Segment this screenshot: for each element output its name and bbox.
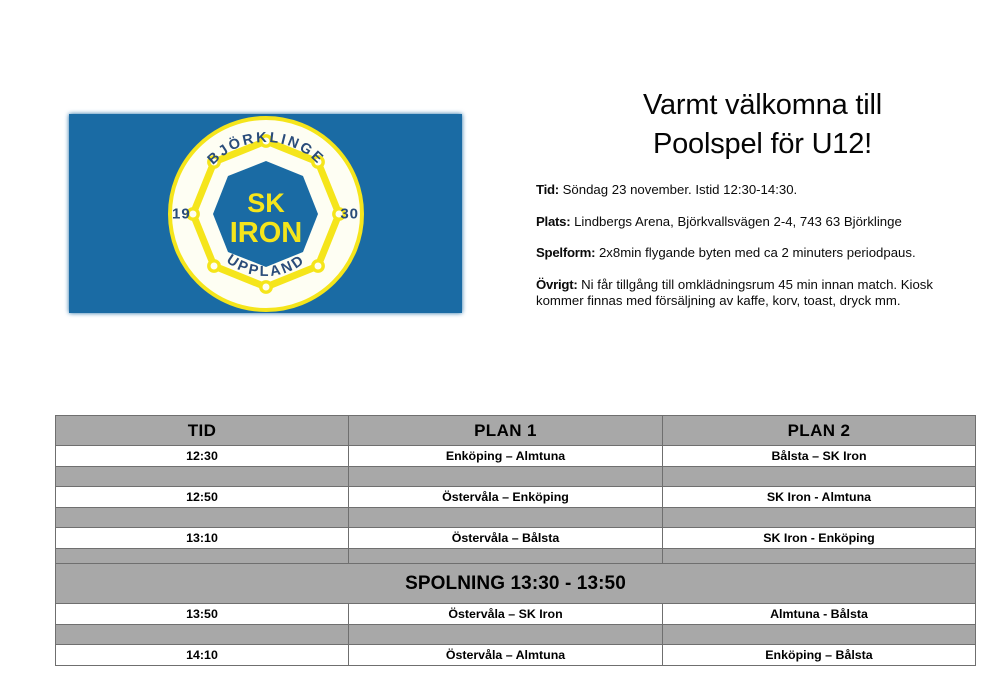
- table-row: 13:10 Östervåla – Bålsta SK Iron - Enköp…: [56, 528, 976, 549]
- info-item-spelform: Spelform: 2x8min flygande byten med ca 2…: [536, 245, 976, 262]
- info-item-tid: Tid: Söndag 23 november. Istid 12:30-14:…: [536, 182, 976, 199]
- spacer-cell-plan1: [349, 625, 663, 645]
- info-value-spelform: 2x8min flygande byten med ca 2 minuters …: [599, 245, 916, 260]
- cell-plan2: Enköping – Bålsta: [663, 645, 976, 666]
- info-value-tid: Söndag 23 november. Istid 12:30-14:30.: [563, 182, 798, 197]
- cell-time: 12:50: [56, 487, 349, 508]
- spacer-cell-plan2: [663, 625, 976, 645]
- table-spacer-row: [56, 467, 976, 487]
- table-row: 13:50 Östervåla – SK Iron Almtuna - Båls…: [56, 604, 976, 625]
- info-label-plats: Plats:: [536, 214, 570, 229]
- logo-emblem-icon: SK IRON BJÖRKLINGE UPPLAND: [166, 114, 366, 314]
- table-spacer-row: [56, 549, 976, 564]
- info-value-ovrigt: Ni får tillgång till omklädningsrum 45 m…: [536, 277, 933, 309]
- schedule-table: TID PLAN 1 PLAN 2 12:30 Enköping – Almtu…: [55, 415, 976, 666]
- column-header-plan1: PLAN 1: [349, 416, 663, 446]
- cell-plan2: SK Iron - Almtuna: [663, 487, 976, 508]
- spacer-cell-tid: [56, 625, 349, 645]
- info-label-ovrigt: Övrigt:: [536, 277, 577, 292]
- table-row: 12:30 Enköping – Almtuna Bålsta – SK Iro…: [56, 446, 976, 467]
- logo-year-left: 19: [172, 205, 191, 222]
- table-header-row: TID PLAN 1 PLAN 2: [56, 416, 976, 446]
- cell-plan1: Östervåla – SK Iron: [349, 604, 663, 625]
- spacer-cell-plan2: [663, 508, 976, 528]
- table-row: 14:10 Östervåla – Almtuna Enköping – Bål…: [56, 645, 976, 666]
- spacer-cell-plan2: [663, 467, 976, 487]
- info-item-ovrigt: Övrigt: Ni får tillgång till omklädnings…: [536, 277, 976, 310]
- cell-plan2: SK Iron - Enköping: [663, 528, 976, 549]
- cell-time: 13:50: [56, 604, 349, 625]
- spacer-cell-tid: [56, 549, 349, 564]
- spacer-cell-tid: [56, 508, 349, 528]
- cell-plan1: Enköping – Almtuna: [349, 446, 663, 467]
- logo-sk-text: SK: [247, 188, 285, 218]
- column-header-tid: TID: [56, 416, 349, 446]
- page-title: Varmt välkomna till Poolspel för U12!: [560, 86, 965, 163]
- info-value-plats: Lindbergs Arena, Björkvallsvägen 2-4, 74…: [574, 214, 902, 229]
- info-label-spelform: Spelform:: [536, 245, 595, 260]
- info-label-tid: Tid:: [536, 182, 559, 197]
- table-spacer-row: [56, 508, 976, 528]
- cell-plan2: Bålsta – SK Iron: [663, 446, 976, 467]
- info-item-plats: Plats: Lindbergs Arena, Björkvallsvägen …: [536, 214, 976, 231]
- table-row: 12:50 Östervåla – Enköping SK Iron - Alm…: [56, 487, 976, 508]
- cell-plan1: Östervåla – Enköping: [349, 487, 663, 508]
- logo-year-right: 30: [340, 205, 359, 222]
- spacer-cell-plan2: [663, 549, 976, 564]
- resurfacing-row: SPOLNING 13:30 - 13:50: [56, 564, 976, 604]
- cell-plan1: Östervåla – Bålsta: [349, 528, 663, 549]
- page-title-line-1: Varmt välkomna till: [560, 86, 965, 125]
- cell-plan1: Östervåla – Almtuna: [349, 645, 663, 666]
- column-header-plan2: PLAN 2: [663, 416, 976, 446]
- cell-time: 14:10: [56, 645, 349, 666]
- resurfacing-label: SPOLNING 13:30 - 13:50: [56, 564, 976, 604]
- logo-iron-text: IRON: [229, 217, 302, 249]
- cell-plan2: Almtuna - Bålsta: [663, 604, 976, 625]
- cell-time: 12:30: [56, 446, 349, 467]
- spacer-cell-plan1: [349, 508, 663, 528]
- cell-time: 13:10: [56, 528, 349, 549]
- event-info-block: Tid: Söndag 23 november. Istid 12:30-14:…: [536, 182, 976, 310]
- page-title-line-2: Poolspel för U12!: [560, 125, 965, 164]
- spacer-cell-plan1: [349, 467, 663, 487]
- table-spacer-row: [56, 625, 976, 645]
- spacer-cell-tid: [56, 467, 349, 487]
- spacer-cell-plan1: [349, 549, 663, 564]
- club-logo: SK IRON BJÖRKLINGE UPPLAND 19 30: [69, 114, 462, 313]
